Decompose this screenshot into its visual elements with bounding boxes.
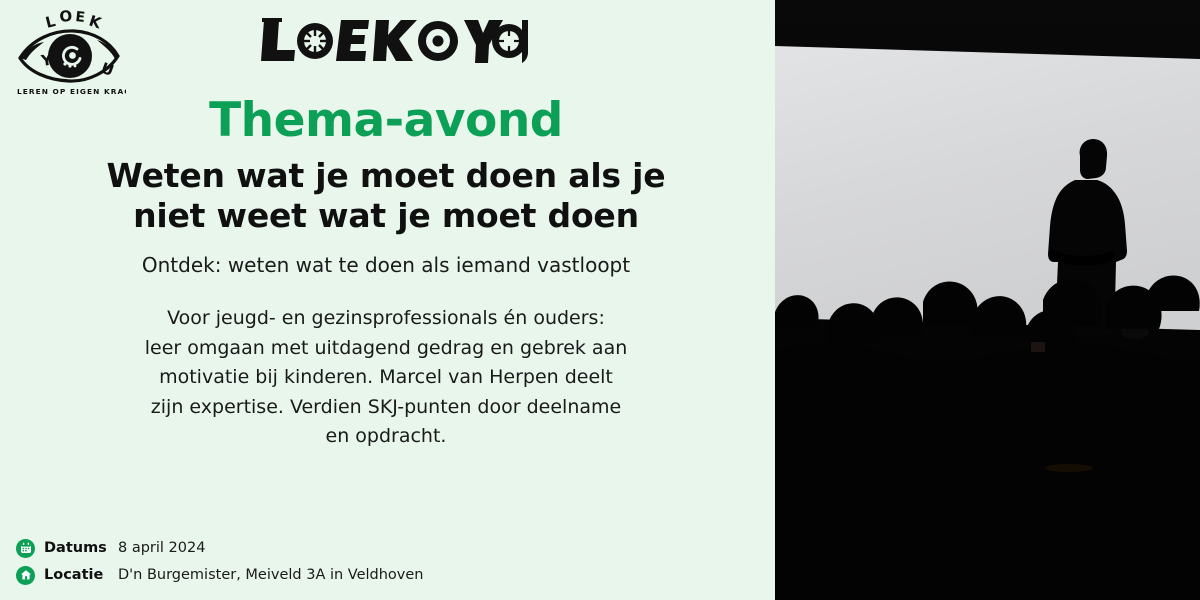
body-line-1: Voor jeugd- en gezinsprofessionals én ou… xyxy=(0,304,772,333)
event-poster: L O E K Y U LEREN OP EIGEN KRACHT xyxy=(0,0,1200,600)
meta-label-location: Locatie xyxy=(44,567,118,583)
eye-logo-icon: L O E K Y U LEREN OP EIGEN KRACHT xyxy=(14,6,126,98)
event-type-heading: Thema-avond xyxy=(0,96,772,147)
body-line-4: zijn expertise. Verdien SKJ-punten door … xyxy=(0,393,772,422)
poster-copy-block: Thema-avond Weten wat je moet doen als j… xyxy=(0,96,772,451)
event-meta: Datums 8 april 2024 Locatie D'n Burgemis… xyxy=(16,536,756,590)
poster-headline: Weten wat je moet doen als je niet weet … xyxy=(0,156,772,237)
calendar-icon xyxy=(16,539,35,558)
headline-line-2: niet weet wat je moet doen xyxy=(0,196,772,236)
body-line-5: en opdracht. xyxy=(0,422,772,451)
brand-wordmark xyxy=(258,14,528,72)
meta-row-dates: Datums 8 april 2024 xyxy=(16,536,756,560)
meta-value-dates: 8 april 2024 xyxy=(118,540,205,556)
poster-subtitle: Ontdek: weten wat te doen als iemand vas… xyxy=(0,252,772,278)
headline-line-1: Weten wat je moet doen als je xyxy=(0,156,772,196)
body-line-2: leer omgaan met uitdagend gedrag en gebr… xyxy=(0,334,772,363)
body-line-3: motivatie bij kinderen. Marcel van Herpe… xyxy=(0,363,772,392)
poster-body-copy: Voor jeugd- en gezinsprofessionals én ou… xyxy=(0,304,772,451)
svg-text:U: U xyxy=(99,59,117,80)
svg-text:LEREN OP EIGEN KRACHT: LEREN OP EIGEN KRACHT xyxy=(17,87,126,96)
svg-text:E: E xyxy=(75,9,86,26)
meta-value-location: D'n Burgemister, Meiveld 3A in Veldhoven xyxy=(118,567,424,583)
svg-text:O: O xyxy=(59,7,74,26)
meta-label-dates: Datums xyxy=(44,540,118,556)
poster-left-panel: L O E K Y U LEREN OP EIGEN KRACHT xyxy=(0,0,772,600)
svg-text:L: L xyxy=(44,12,58,32)
speaker-silhouette-photo xyxy=(775,0,1200,600)
location-pin-icon xyxy=(16,566,35,585)
svg-text:K: K xyxy=(87,12,105,33)
meta-row-location: Locatie D'n Burgemister, Meiveld 3A in V… xyxy=(16,563,756,587)
